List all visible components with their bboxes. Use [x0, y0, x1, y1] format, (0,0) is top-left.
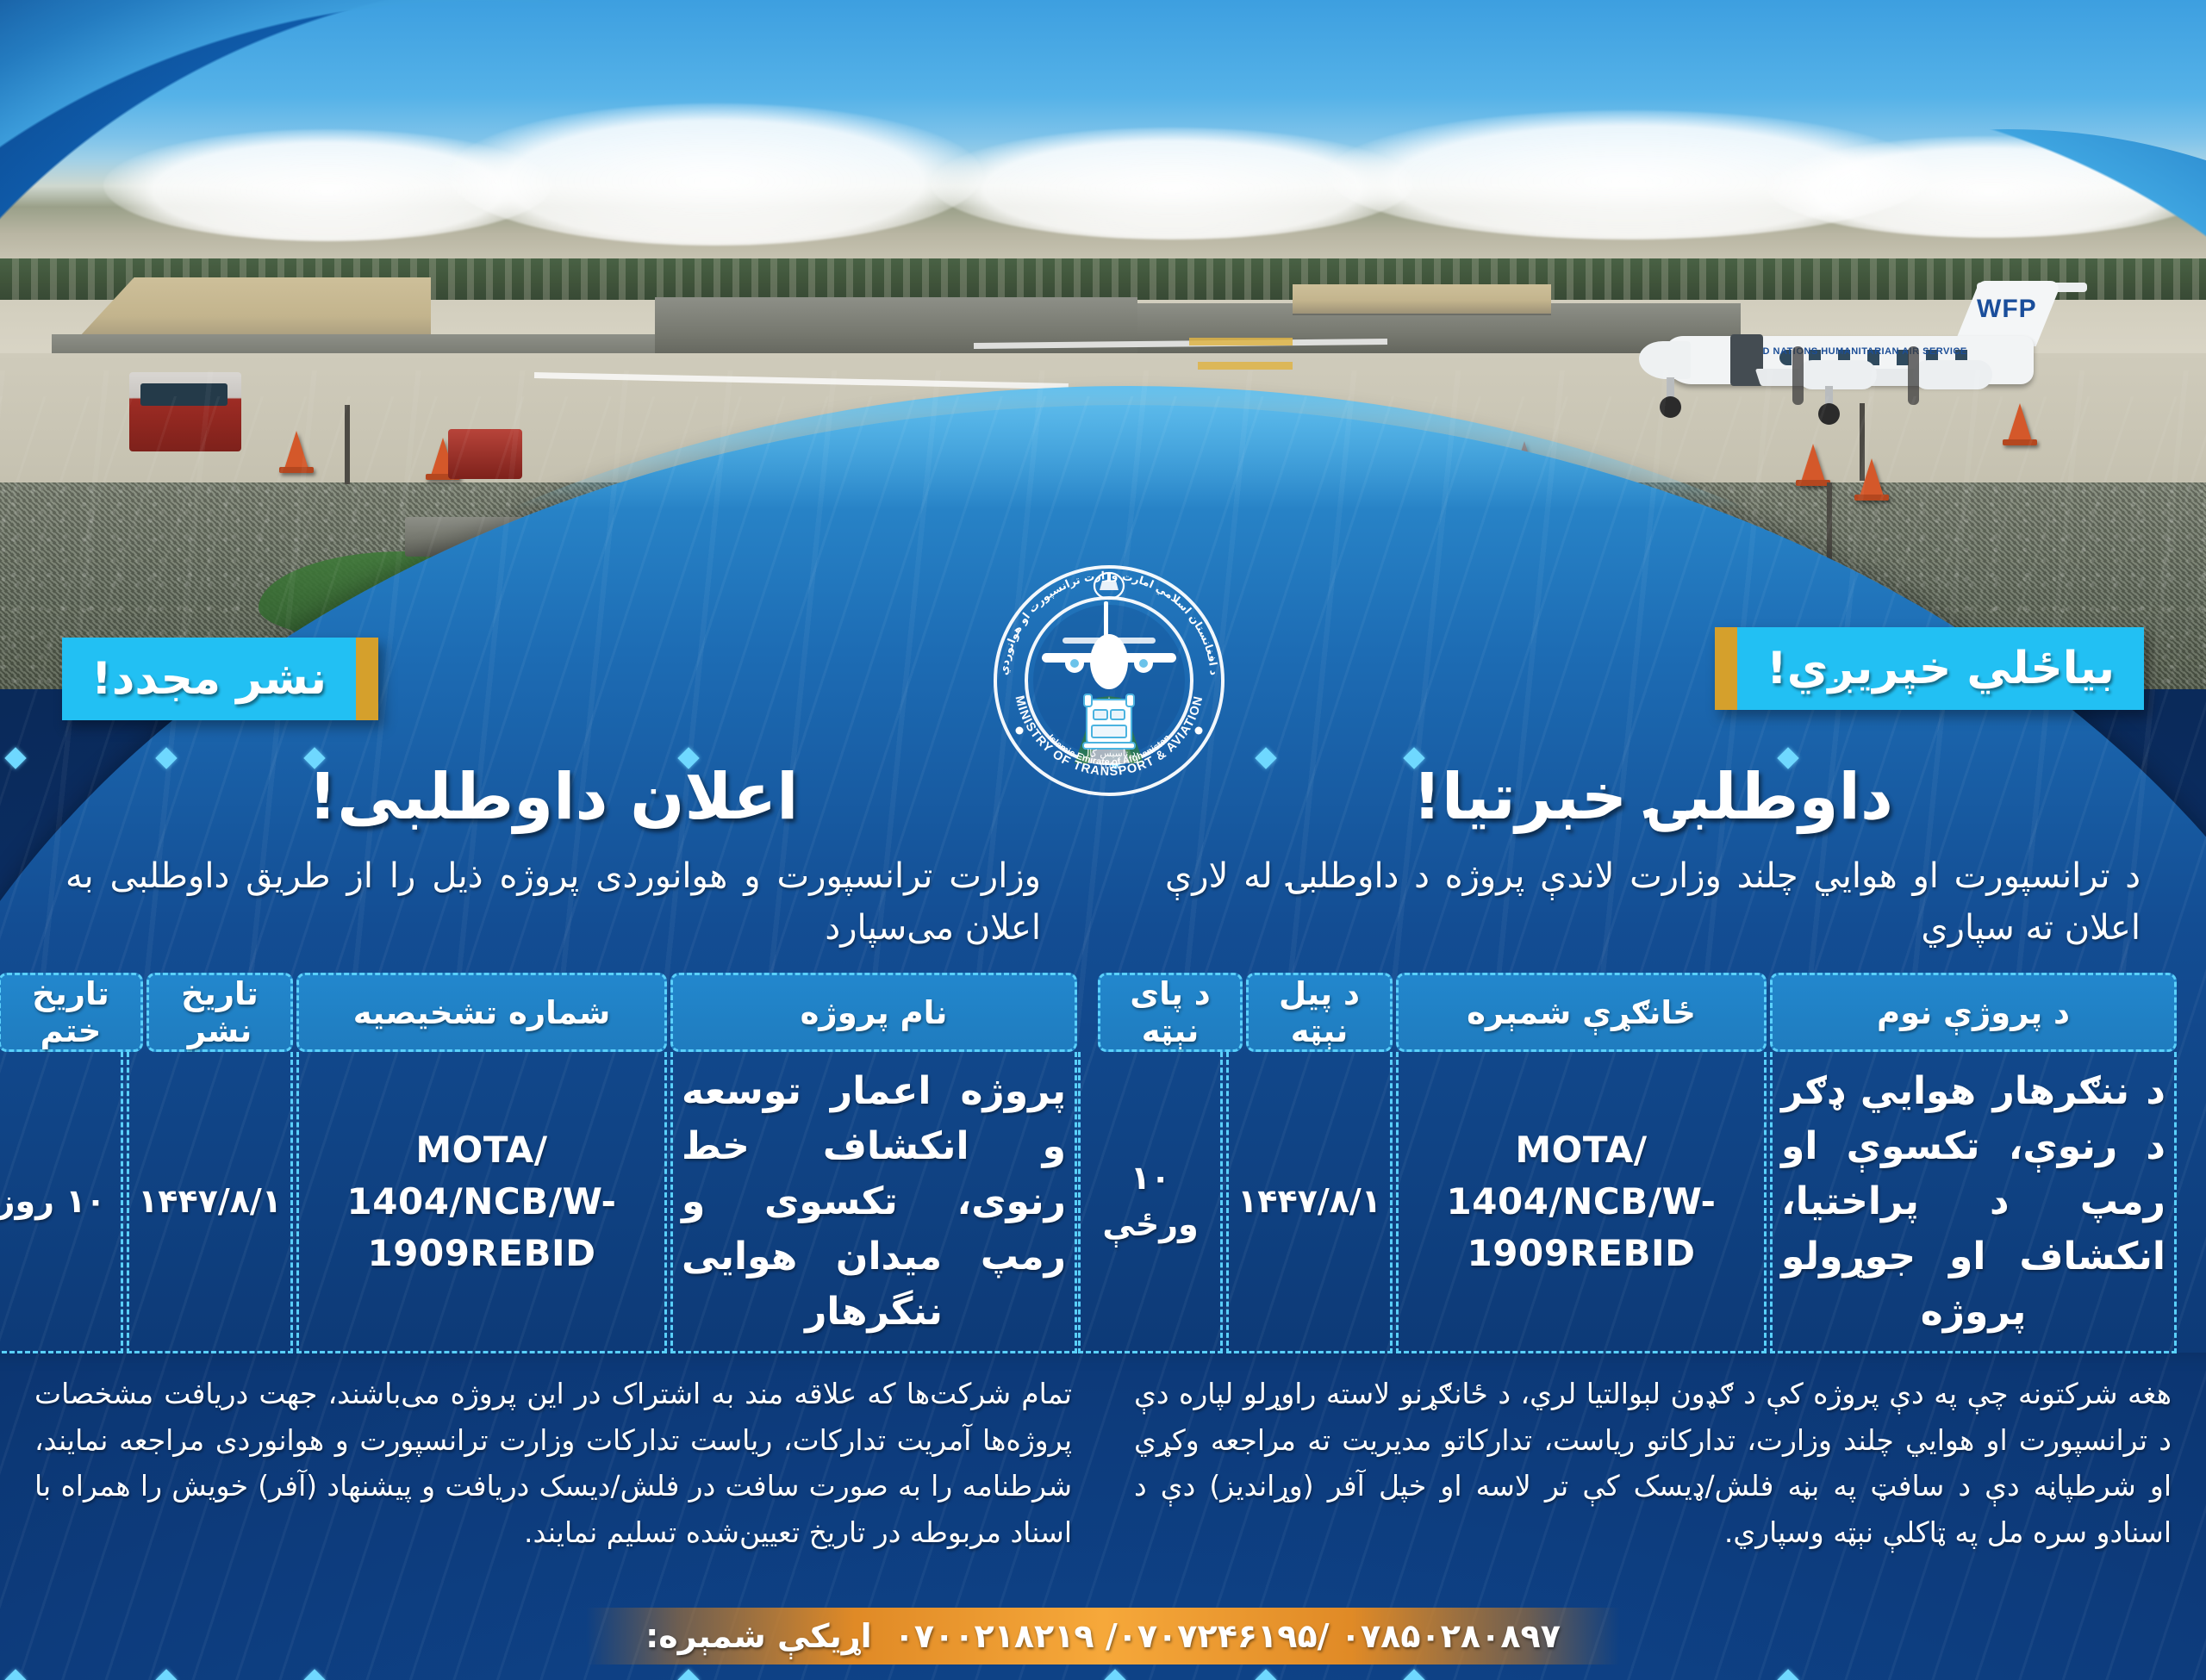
badge-pashto-text: بیاځلي خپریږي!: [1737, 627, 2144, 710]
header-project-name: د پروژې نوم: [1770, 973, 2177, 1052]
aircraft-illustration: WFP UNITED NATIONS HUMANITARIAN AIR SERV…: [1629, 284, 2111, 431]
corner-diamond: [1403, 1669, 1424, 1680]
corner-diamond: [303, 1669, 325, 1680]
tender-table-pashto: د پروژې نوم ځانګړې شمېره د پیل نېټه د پا…: [1127, 973, 2178, 1353]
corner-diamond: [1255, 1669, 1276, 1680]
badge-republish-dari: نشر مجدد!: [62, 638, 378, 720]
badge-accent-bar: [1715, 627, 1737, 710]
marker-post: [1827, 482, 1832, 577]
heading-dari: اعلان داوطلبی!: [16, 758, 1091, 835]
badge-dari-text: نشر مجدد!: [62, 638, 356, 720]
cell-project-code: MOTA/ 1404/NCB/W-1909REBID: [1396, 1052, 1767, 1353]
column-pashto: داوطلبۍ خبرتیا! د ترانسپورت او هوايي چلن…: [1115, 758, 2190, 1680]
centerline-marking: [1198, 362, 1293, 370]
table-row: د ننګرهار هوايي ډګر د رنوې، تکسوې او رمپ…: [1127, 1052, 2178, 1353]
cell-project-name: د ننګرهار هوايي ډګر د رنوې، تکسوې او رمپ…: [1770, 1052, 2177, 1353]
contact-bar: ۰۷۰۰۲۱۸۲۱۹ /۰۷۰۷۲۴۶۱۹۵/ ۰۷۸۵۰۲۸۰۸۹۷ اړیک…: [586, 1608, 1620, 1664]
note-pashto: هغه شرکتونه چې په دې پروژه کې د ګډون لېو…: [1115, 1353, 2190, 1555]
table-header-row: نام پروژه شماره تشخیصیه تاریخ نشر تاریخ …: [28, 973, 1079, 1052]
centerline-marking: [1189, 338, 1293, 345]
propeller: [1908, 346, 1919, 405]
service-cart: [448, 429, 522, 479]
corner-diamond: [1104, 1669, 1125, 1680]
cell-publish-date: ۱۴۴۷/۸/۱: [1226, 1052, 1393, 1353]
ministry-logo: د افغانستان اسلامي امارت وزارت ترانسپورت…: [980, 551, 1238, 810]
header-project-name: نام پروژه: [670, 973, 1077, 1052]
aircraft-tail-code: WFP: [1977, 295, 2037, 324]
cart-body: [448, 429, 522, 479]
intro-dari: وزارت ترانسپورت و هوانوردی پروژه ذیل را …: [16, 835, 1091, 954]
corner-diamond: [4, 1669, 26, 1680]
engine-nacelle: [1798, 360, 1877, 389]
marker-post: [345, 405, 350, 484]
logo-founded-year: ۱۳۵۸: [1099, 760, 1119, 771]
table-row: پروژه اعمار توسعه و انکشاف خط رنوی، تکسو…: [28, 1052, 1079, 1353]
header-end-date: تاریخ ختم: [0, 973, 143, 1052]
corner-diamond: [155, 1669, 177, 1680]
traffic-cone: [844, 448, 869, 486]
cell-publish-date: ۱۴۴۷/۸/۱: [127, 1052, 293, 1353]
header-project-code: شماره تشخیصیه: [296, 973, 667, 1052]
main-wheel: [1818, 403, 1840, 425]
traffic-cone: [1801, 444, 1825, 482]
cell-project-code: MOTA/ 1404/NCB/W-1909REBID: [296, 1052, 667, 1353]
heading-pashto: داوطلبۍ خبرتیا!: [1115, 758, 2190, 835]
column-dari: اعلان داوطلبی! وزارت ترانسپورت و هوانورد…: [16, 758, 1091, 1680]
corner-diamond: [677, 1669, 699, 1680]
badge-accent-bar: [356, 638, 378, 720]
nose-cone: [1639, 341, 1691, 379]
badge-republish-pashto: بیاځلي خپریږي!: [1715, 627, 2144, 710]
content-columns: داوطلبۍ خبرتیا! د ترانسپورت او هوايي چلن…: [0, 758, 2206, 1680]
contact-label: اړیکې شمېره:: [645, 1617, 872, 1655]
note-dari: تمام شرکت‌ها که علاقه مند به اشتراک در ا…: [16, 1353, 1091, 1555]
engine-nacelle: [1913, 360, 1992, 389]
intro-pashto: د ترانسپورت او هوايي چلند وزارت لاندې پر…: [1115, 835, 2190, 954]
contact-numbers: ۰۷۰۰۲۱۸۲۱۹ /۰۷۰۷۲۴۶۱۹۵/ ۰۷۸۵۰۲۸۰۸۹۷: [894, 1617, 1561, 1655]
header-publish-date: د پیل نېټه: [1246, 973, 1393, 1052]
cell-end-date: ۱۰ روز: [0, 1052, 123, 1353]
nose-wheel: [1660, 396, 1681, 418]
header-project-code: ځانګړې شمېره: [1396, 973, 1767, 1052]
propeller: [1792, 346, 1804, 405]
traffic-cone: [1512, 441, 1536, 479]
header-publish-date: تاریخ نشر: [146, 973, 293, 1052]
cell-project-name: پروژه اعمار توسعه و انکشاف خط رنوی، تکسو…: [670, 1052, 1077, 1353]
cloud-shape: [448, 103, 982, 246]
ground-truck: [129, 372, 241, 451]
poster-root: WFP UNITED NATIONS HUMANITARIAN AIR SERV…: [0, 0, 2206, 1680]
tender-table-dari: نام پروژه شماره تشخیصیه تاریخ نشر تاریخ …: [28, 973, 1079, 1353]
corner-diamond: [1777, 1669, 1798, 1680]
cell-end-date: ۱۰ ورځې: [1078, 1052, 1223, 1353]
traffic-cone: [284, 431, 308, 469]
concrete-curb: [405, 517, 689, 557]
truck-window: [140, 383, 227, 406]
aircraft-livery-text: UNITED NATIONS HUMANITARIAN AIR SERVICE: [1732, 346, 1967, 357]
hangar-building: [1293, 284, 1551, 314]
header-end-date: د پای نېټه: [1098, 973, 1243, 1052]
table-header-row: د پروژې نوم ځانګړې شمېره د پیل نېټه د پا…: [1127, 973, 2178, 1052]
cloud-shape: [1767, 136, 2206, 238]
logo-founded-label: د تاسیس کال: [1082, 748, 1136, 759]
